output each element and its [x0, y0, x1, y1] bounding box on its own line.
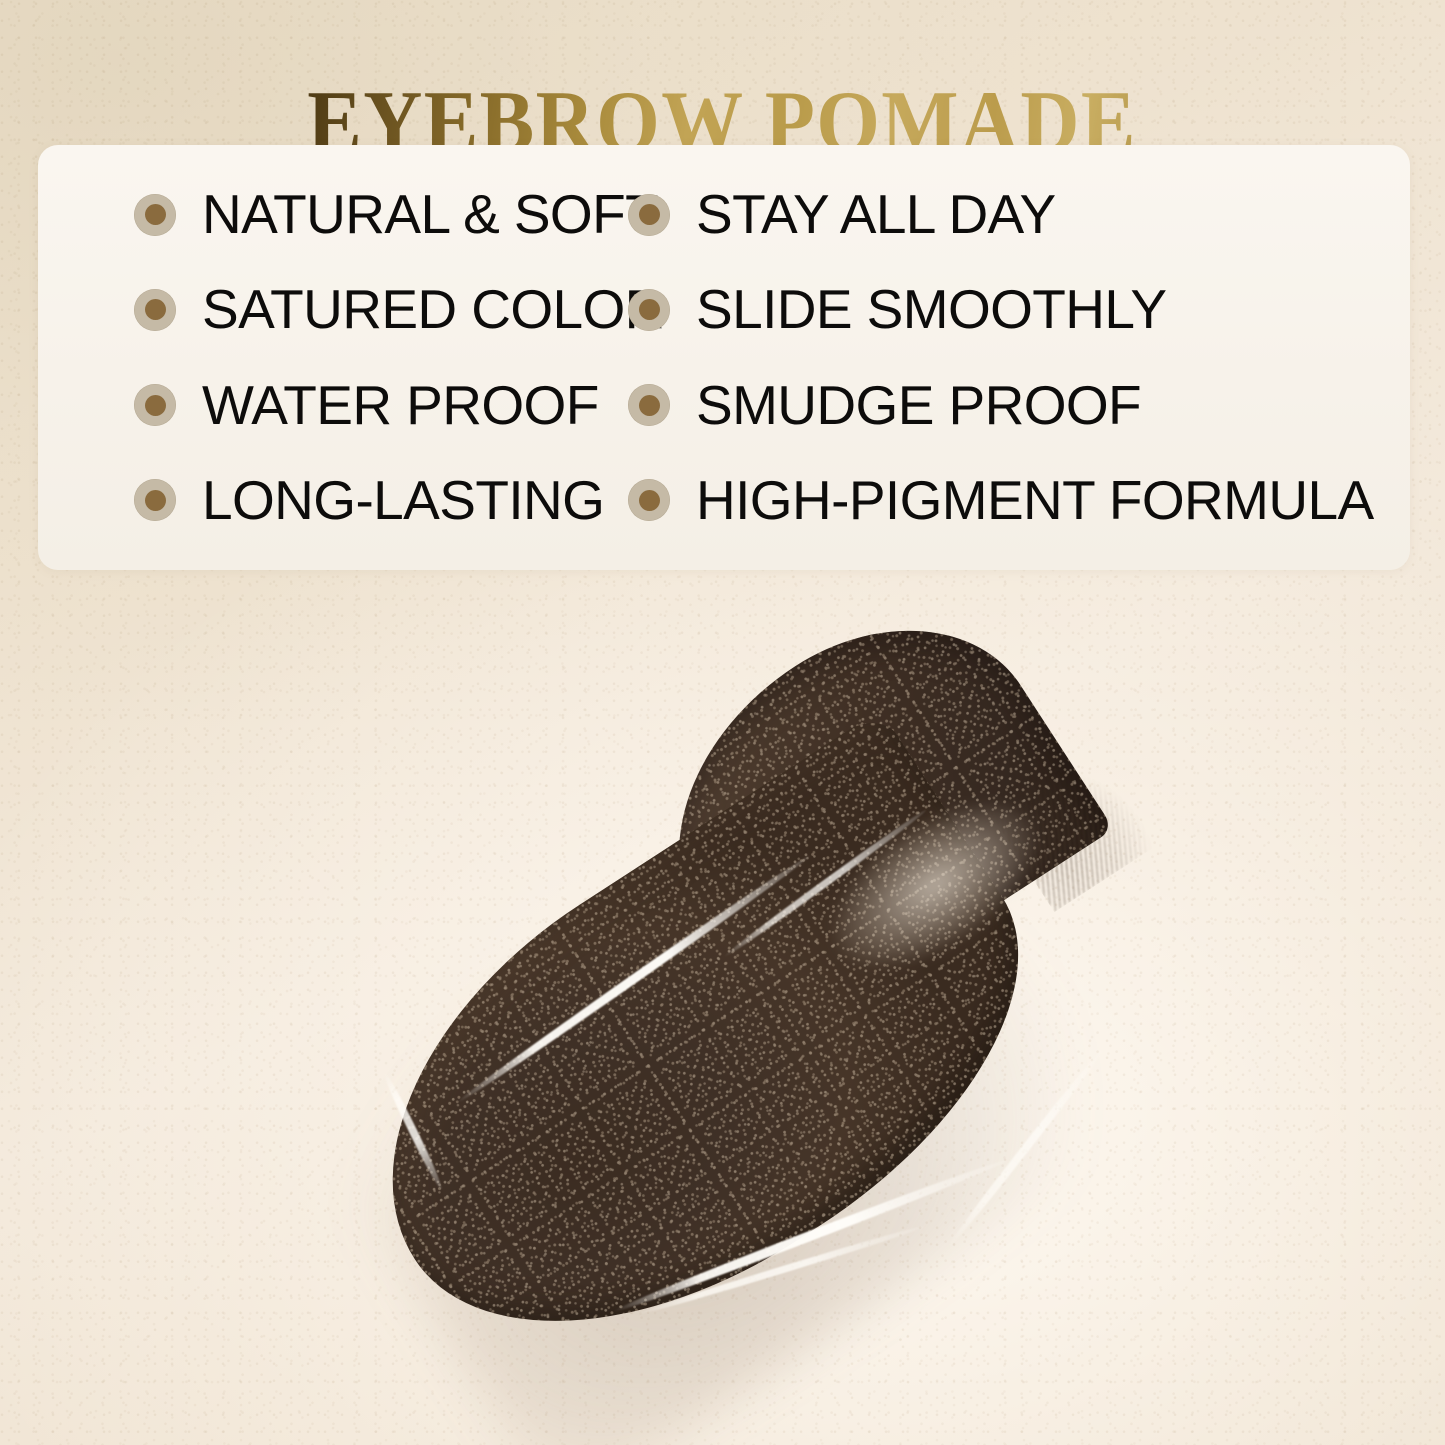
bullet-dot-icon: [628, 479, 670, 521]
product-infographic: EYEBROW POMADE NATURAL & SOFT STAY ALL D…: [0, 0, 1445, 1445]
feature-label: LONG-LASTING: [202, 473, 604, 528]
bullet-dot-icon: [134, 479, 176, 521]
feature-item-satured-color: SATURED COLOR: [38, 262, 618, 357]
feature-label: STAY ALL DAY: [696, 187, 1056, 242]
feature-item-natural-and-soft: NATURAL & SOFT: [38, 167, 618, 262]
feature-item-smudge-proof: SMUDGE PROOF: [618, 358, 1410, 453]
bullet-dot-icon: [134, 384, 176, 426]
feature-item-water-proof: WATER PROOF: [38, 358, 618, 453]
product-swatch-area: [0, 600, 1445, 1445]
bullet-dot-icon: [628, 289, 670, 331]
bullet-dot-icon: [628, 384, 670, 426]
feature-label: SMUDGE PROOF: [696, 378, 1141, 433]
bullet-dot-icon: [134, 289, 176, 331]
feature-label: SATURED COLOR: [202, 282, 664, 337]
feature-label: HIGH-PIGMENT FORMULA: [696, 473, 1374, 528]
bullet-dot-icon: [134, 194, 176, 236]
feature-label: NATURAL & SOFT: [202, 187, 658, 242]
swatch-body: [300, 675, 1180, 1375]
feature-panel: NATURAL & SOFT STAY ALL DAY SATURED COLO…: [38, 145, 1410, 570]
bullet-dot-icon: [628, 194, 670, 236]
feature-item-stay-all-day: STAY ALL DAY: [618, 167, 1410, 262]
feature-label: WATER PROOF: [202, 378, 599, 433]
feature-label: SLIDE SMOOTHLY: [696, 282, 1166, 337]
feature-item-slide-smoothly: SLIDE SMOOTHLY: [618, 262, 1410, 357]
feature-item-long-lasting: LONG-LASTING: [38, 453, 618, 548]
feature-grid: NATURAL & SOFT STAY ALL DAY SATURED COLO…: [38, 145, 1410, 570]
feature-item-high-pigment-formula: HIGH-PIGMENT FORMULA: [618, 453, 1410, 548]
eyebrow-pomade-swatch: [300, 675, 1180, 1375]
